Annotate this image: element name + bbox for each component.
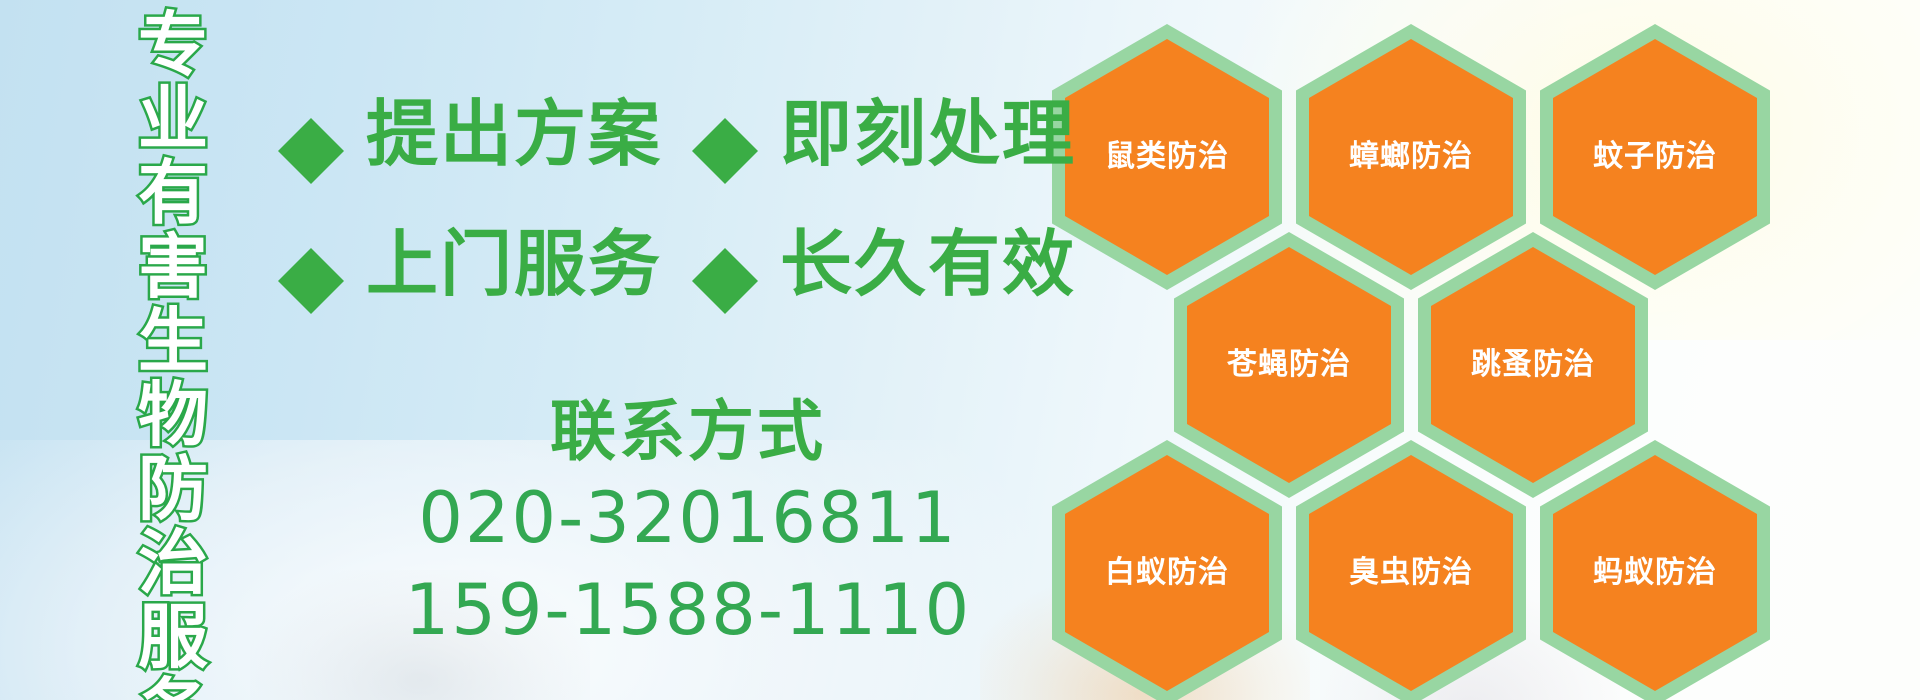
service-hex-ant[interactable]: 蚂蚁防治 [1540, 440, 1770, 700]
contact-title: 联系方式 [378, 392, 998, 472]
diamond-icon [692, 85, 758, 151]
hex-inner: 鼠类防治 [1065, 39, 1269, 275]
diamond-icon [278, 215, 344, 281]
feature-row: 提出方案 即刻处理 [278, 86, 1076, 182]
service-label: 蚂蚁防治 [1593, 558, 1717, 588]
vertical-headline: 专 业 有 害 生 物 防 治 服 务 [130, 8, 216, 692]
service-label: 跳蚤防治 [1471, 350, 1595, 380]
vertical-headline-char: 害 [138, 230, 208, 304]
hex-inner: 蚊子防治 [1553, 39, 1757, 275]
diamond-icon [278, 85, 344, 151]
service-label: 蟑螂防治 [1349, 142, 1473, 172]
service-label: 白蚁防治 [1105, 558, 1229, 588]
vertical-headline-char: 有 [138, 156, 208, 230]
service-label: 蚊子防治 [1593, 142, 1717, 172]
service-hex-rodent[interactable]: 鼠类防治 [1052, 24, 1282, 290]
pest-control-banner: 专 业 有 害 生 物 防 治 服 务 提出方案 即刻处理 上门服务 长久有效 … [0, 0, 1920, 700]
service-label: 臭虫防治 [1349, 558, 1473, 588]
contact-block: 联系方式 020-32016811 159-1588-1110 [378, 392, 998, 656]
vertical-headline-char: 业 [138, 82, 208, 156]
service-hex-flea[interactable]: 跳蚤防治 [1418, 232, 1648, 498]
vertical-headline-char: 务 [138, 674, 208, 700]
hex-inner: 臭虫防治 [1309, 455, 1513, 691]
service-hex-fly[interactable]: 苍蝇防治 [1174, 232, 1404, 498]
contact-phone-landline[interactable]: 020-32016811 [378, 472, 998, 564]
service-label: 苍蝇防治 [1227, 350, 1351, 380]
feature-label: 上门服务 [366, 228, 662, 300]
hex-inner: 跳蚤防治 [1431, 247, 1635, 483]
feature-row: 上门服务 长久有效 [278, 216, 1076, 312]
feature-label: 提出方案 [366, 98, 662, 170]
vertical-headline-char: 服 [138, 600, 208, 674]
service-hex-bedbug[interactable]: 臭虫防治 [1296, 440, 1526, 700]
vertical-headline-char: 防 [138, 452, 208, 526]
diamond-icon [692, 215, 758, 281]
vertical-headline-char: 生 [138, 304, 208, 378]
contact-phone-mobile[interactable]: 159-1588-1110 [378, 564, 998, 656]
vertical-headline-char: 治 [138, 526, 208, 600]
feature-list: 提出方案 即刻处理 上门服务 长久有效 [278, 86, 1076, 312]
service-hex-cockroach[interactable]: 蟑螂防治 [1296, 24, 1526, 290]
service-honeycomb: 鼠类防治 蟑螂防治 蚊子防治 苍蝇防治 跳蚤防治 白蚁防治 [1052, 6, 1772, 696]
service-hex-mosquito[interactable]: 蚊子防治 [1540, 24, 1770, 290]
service-hex-termite[interactable]: 白蚁防治 [1052, 440, 1282, 700]
feature-label: 即刻处理 [780, 98, 1076, 170]
hex-inner: 蟑螂防治 [1309, 39, 1513, 275]
service-label: 鼠类防治 [1105, 142, 1229, 172]
hex-inner: 白蚁防治 [1065, 455, 1269, 691]
hex-inner: 蚂蚁防治 [1553, 455, 1757, 691]
vertical-headline-char: 物 [138, 378, 208, 452]
hex-inner: 苍蝇防治 [1187, 247, 1391, 483]
feature-label: 长久有效 [780, 228, 1076, 300]
vertical-headline-char: 专 [138, 8, 208, 82]
